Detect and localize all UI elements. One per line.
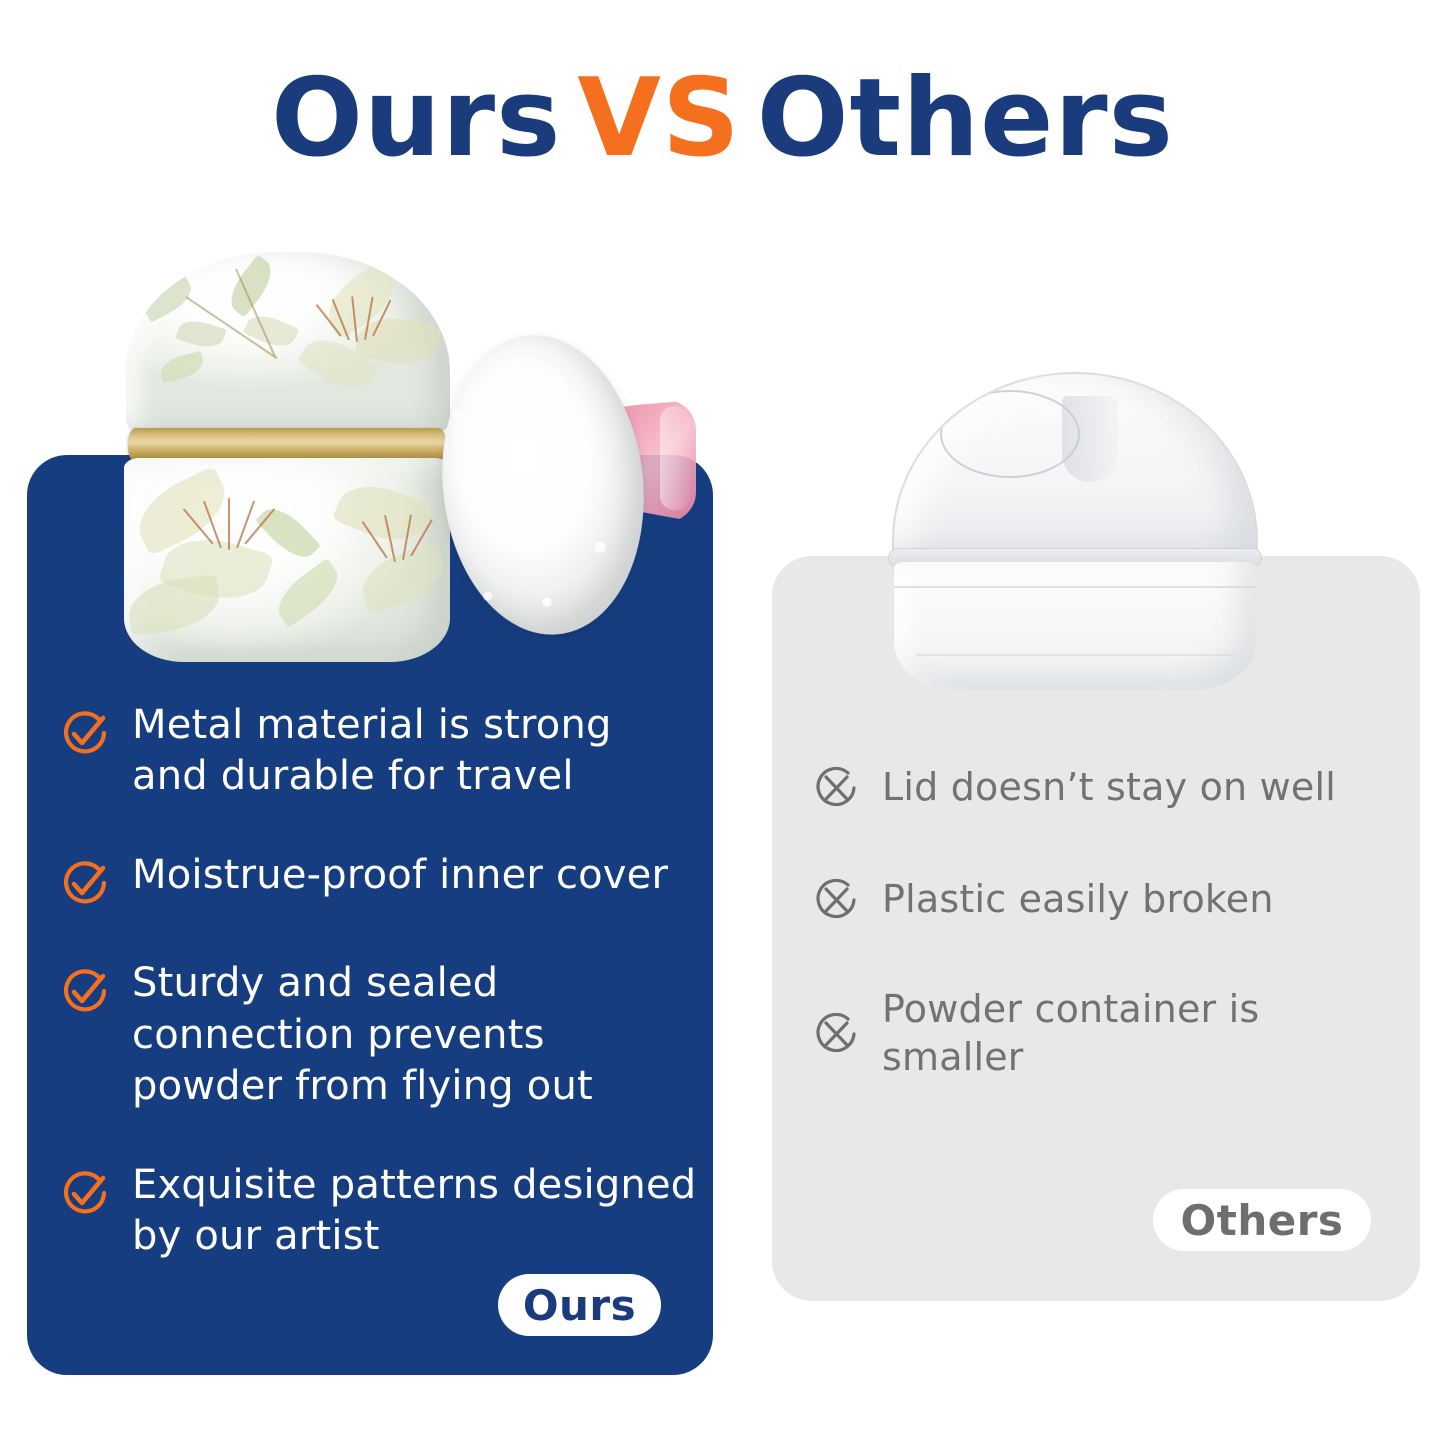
ours-feature-list: Metal material is strong and durable for…: [58, 700, 698, 1262]
clear-dome-lid: [892, 372, 1258, 558]
ours-feature-text: Moistrue-proof inner cover: [132, 850, 668, 901]
others-feature-text: Plastic easily broken: [882, 876, 1274, 924]
list-item: Metal material is strong and durable for…: [58, 700, 698, 802]
dome-knob: [1062, 396, 1118, 482]
tin-gold-band: [128, 428, 446, 462]
page-title: OursVSOthers: [0, 62, 1445, 175]
ours-feature-text: Metal material is strong and durable for…: [132, 700, 698, 802]
tin-lid: [126, 252, 450, 434]
container-base: [894, 562, 1256, 690]
check-circle-icon: [58, 1166, 112, 1220]
x-circle-icon: [810, 762, 862, 814]
title-ours: Ours: [271, 62, 561, 175]
tin-body: [124, 458, 450, 662]
list-item: Sturdy and sealed connection prevents po…: [58, 958, 698, 1112]
plastic-powder-container-image: [880, 372, 1270, 690]
x-circle-icon: [810, 874, 862, 926]
floral-metal-tin-image: [118, 252, 458, 662]
ours-badge: Ours: [498, 1274, 661, 1336]
ours-feature-text: Sturdy and sealed connection prevents po…: [132, 958, 698, 1112]
others-feature-text: Lid doesn’t stay on well: [882, 764, 1336, 812]
others-feature-text: Powder container is smaller: [882, 986, 1410, 1081]
title-vs: VS: [561, 62, 756, 175]
list-item: Lid doesn’t stay on well: [810, 762, 1410, 814]
list-item: Exquisite patterns designed by our artis…: [58, 1160, 698, 1262]
comparison-infographic: OursVSOthers: [0, 0, 1445, 1445]
title-others: Others: [757, 62, 1174, 175]
others-badge: Others: [1153, 1189, 1371, 1251]
check-circle-icon: [58, 964, 112, 1018]
list-item: Powder container is smaller: [810, 986, 1410, 1081]
others-feature-list: Lid doesn’t stay on well Plastic easily …: [810, 762, 1410, 1081]
list-item: Plastic easily broken: [810, 874, 1410, 926]
check-circle-icon: [58, 856, 112, 910]
ours-feature-text: Exquisite patterns designed by our artis…: [132, 1160, 698, 1262]
check-circle-icon: [58, 706, 112, 760]
list-item: Moistrue-proof inner cover: [58, 850, 698, 910]
x-circle-icon: [810, 1008, 862, 1060]
